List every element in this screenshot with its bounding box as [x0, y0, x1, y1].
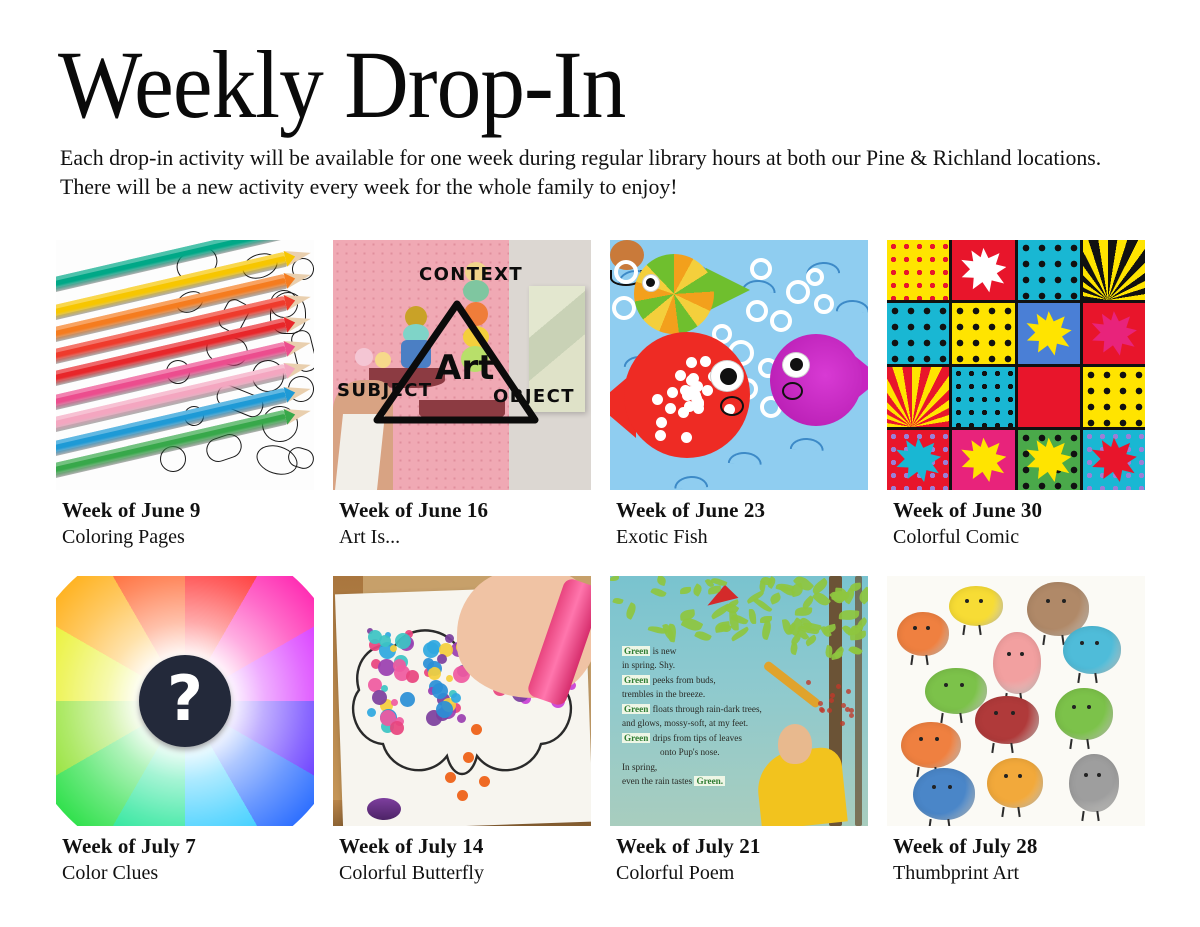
- comic-panel: [952, 240, 1014, 300]
- bubble: [750, 258, 772, 280]
- marker-dot: [428, 667, 441, 680]
- marker-dot: [423, 658, 434, 669]
- water-wave: [674, 475, 708, 488]
- bubble: [770, 310, 792, 332]
- ink-leg: [1081, 811, 1084, 821]
- activity-card[interactable]: Green is new in spring. Shy. Green peeks…: [610, 576, 868, 885]
- marker-dot: [451, 693, 461, 703]
- foliage-leaf: [680, 587, 691, 594]
- fish-magenta: [770, 334, 862, 426]
- marker-dot: [406, 670, 419, 683]
- card-activity-label: Colorful Butterfly: [339, 862, 591, 885]
- autumn-speckle: [829, 698, 834, 703]
- fish-gill: [720, 396, 744, 416]
- foliage-leaf: [691, 583, 704, 597]
- thumbprint-chick: [949, 586, 1003, 626]
- marker-dot: [445, 772, 456, 783]
- ink-eye: [1072, 705, 1076, 709]
- foliage-leaf: [650, 586, 667, 599]
- autumn-speckle: [840, 721, 845, 726]
- polka-dot: [665, 403, 676, 414]
- triangle-label-subject: SUBJECT: [337, 380, 433, 401]
- fish-eye-pupil: [790, 358, 803, 371]
- ink-leg: [1087, 739, 1090, 749]
- autumn-speckle: [827, 708, 832, 713]
- comic-panel: [887, 367, 949, 427]
- foliage-leaf: [769, 592, 783, 604]
- marker-dot: [437, 654, 447, 664]
- card-activity-label: Color Clues: [62, 862, 314, 885]
- bubble: [814, 294, 834, 314]
- marker-cap: [367, 798, 401, 820]
- poem-line: in spring. Shy.: [622, 658, 808, 672]
- marker-dot: [390, 721, 404, 735]
- autumn-speckle: [819, 707, 824, 712]
- poster-header: Weekly Drop-In Each drop-in activity wil…: [58, 38, 1158, 202]
- marker-dot: [423, 642, 439, 658]
- poem-line: Green floats through rain-dark trees,: [622, 702, 808, 716]
- poem-line: trembles in the breeze.: [622, 687, 808, 701]
- activity-image-colorful-poem: Green is new in spring. Shy. Green peeks…: [610, 576, 868, 826]
- fish-gill: [782, 382, 803, 400]
- ink-leg: [1018, 807, 1021, 817]
- ink-eye: [1087, 705, 1091, 709]
- comic-panel: [1083, 240, 1145, 300]
- activity-image-colorful-butterfly: [333, 576, 591, 826]
- ink-eye: [1080, 641, 1084, 645]
- ink-leg: [1096, 811, 1099, 821]
- marker-dot: [379, 635, 391, 647]
- water-wave: [790, 437, 825, 451]
- card-week-label: Week of June 9: [62, 498, 314, 523]
- question-mark-icon: ?: [139, 655, 231, 747]
- ink-leg: [910, 655, 913, 665]
- polka-dot: [692, 381, 703, 392]
- comic-panel: [887, 303, 949, 363]
- marker-dot: [393, 659, 406, 672]
- fish-red-polka-dot: [624, 332, 750, 458]
- comic-panel: [952, 303, 1014, 363]
- ink-leg: [991, 743, 994, 753]
- ink-leg: [1069, 739, 1072, 749]
- marker-dot: [446, 675, 453, 682]
- card-activity-label: Coloring Pages: [62, 526, 314, 549]
- card-activity-label: Thumbprint Art: [893, 862, 1145, 885]
- poster-page: Weekly Drop-In Each drop-in activity wil…: [0, 0, 1200, 927]
- poem-line: and glows, mossy-soft, at my feet.: [622, 716, 808, 730]
- ink-eye: [1095, 641, 1099, 645]
- marker-dot: [367, 708, 376, 717]
- child-head: [778, 724, 812, 764]
- comic-panel: [1083, 303, 1145, 363]
- comic-starburst: [1091, 438, 1137, 483]
- activity-card[interactable]: CONTEXT SUBJECT OBJECT Art Week of June …: [333, 240, 591, 549]
- ink-leg: [962, 625, 965, 635]
- poem-line: Green is new: [622, 644, 808, 658]
- foliage-leaf: [610, 576, 619, 581]
- poem-line: Green peeks from buds,: [622, 673, 808, 687]
- marker-dot: [479, 776, 490, 787]
- ink-leg: [925, 655, 928, 665]
- autumn-speckle: [818, 701, 823, 706]
- card-week-label: Week of June 23: [616, 498, 868, 523]
- polka-dot: [681, 432, 692, 443]
- foliage-leaf: [694, 629, 712, 643]
- activity-card[interactable]: Week of June 30 Colorful Comic: [887, 240, 1145, 549]
- bubble: [614, 260, 638, 284]
- marker-dot: [391, 699, 398, 706]
- thumbprint-turtle: [925, 668, 987, 714]
- ink-eye: [1007, 652, 1011, 656]
- card-activity-label: Colorful Comic: [893, 526, 1145, 549]
- ink-eye: [1004, 774, 1008, 778]
- marker-dot: [445, 634, 454, 643]
- comic-panel: [1018, 303, 1080, 363]
- polka-dot: [702, 385, 713, 396]
- ink-leg: [1077, 673, 1080, 683]
- highlight-green: Green: [622, 733, 650, 743]
- ink-leg: [979, 625, 982, 635]
- card-activity-label: Exotic Fish: [616, 526, 868, 549]
- card-week-label: Week of July 14: [339, 834, 591, 859]
- foliage-leaf: [749, 609, 757, 624]
- ink-eye: [1097, 773, 1101, 777]
- marker-dot: [463, 752, 474, 763]
- ink-eye: [926, 626, 930, 630]
- triangle-label-object: OBJECT: [493, 386, 575, 407]
- comic-panel: [1083, 430, 1145, 490]
- comic-starburst: [1026, 438, 1072, 483]
- activity-image-coloring-pages: [56, 240, 314, 490]
- foliage-leaf: [656, 576, 667, 586]
- bubble: [612, 296, 636, 320]
- comic-panel: [887, 240, 949, 300]
- ink-eye: [1011, 711, 1015, 715]
- triangle-label-art: Art: [435, 348, 494, 388]
- comic-panel: [952, 367, 1014, 427]
- ink-leg: [940, 713, 943, 723]
- ink-leg: [916, 767, 919, 777]
- card-activity-label: Art Is...: [339, 526, 591, 549]
- fish-eye-pupil: [646, 278, 655, 287]
- ink-eye: [935, 737, 939, 741]
- thumbprint-cat: [897, 612, 949, 656]
- page-title: Weekly Drop-In: [58, 38, 1081, 132]
- card-week-label: Week of June 30: [893, 498, 1145, 523]
- card-week-label: Week of July 21: [616, 834, 868, 859]
- ink-eye: [1018, 774, 1022, 778]
- card-week-label: Week of July 7: [62, 834, 314, 859]
- ink-eye: [1020, 652, 1024, 656]
- marker-dot: [372, 690, 387, 705]
- page-subtitle: Each drop-in activity will be available …: [60, 144, 1108, 202]
- activity-image-color-clues: ?: [56, 576, 314, 826]
- activity-card[interactable]: Week of July 28 Thumbprint Art: [887, 576, 1145, 885]
- foliage-leaf: [624, 602, 638, 620]
- foliage-leaf: [612, 597, 623, 606]
- card-week-label: Week of July 28: [893, 834, 1145, 859]
- water-wave: [728, 451, 763, 465]
- comic-panel: [1018, 367, 1080, 427]
- polka-dot: [680, 385, 691, 396]
- fish-orange-striped: [634, 254, 714, 334]
- ink-eye: [994, 711, 998, 715]
- activity-image-art-is: CONTEXT SUBJECT OBJECT Art: [333, 240, 591, 490]
- marker-dot: [390, 645, 397, 652]
- autumn-speckle: [849, 713, 854, 718]
- triangle-label-context: CONTEXT: [419, 264, 523, 285]
- thumbprint-dog: [975, 696, 1039, 744]
- marker-dot: [395, 633, 411, 649]
- ink-eye: [965, 599, 969, 603]
- activity-card[interactable]: Week of June 23 Exotic Fish: [610, 240, 868, 549]
- activity-card[interactable]: Week of June 9 Coloring Pages: [56, 240, 314, 549]
- ink-eye: [944, 683, 948, 687]
- comic-starburst: [895, 438, 941, 483]
- highlight-green: Green: [622, 704, 650, 714]
- highlight-green: Green: [622, 646, 650, 656]
- foliage-leaf: [667, 624, 677, 643]
- autumn-speckle: [836, 684, 841, 689]
- ink-leg: [947, 819, 950, 826]
- comic-panel: [1018, 240, 1080, 300]
- comic-starburst: [960, 438, 1006, 483]
- comic-panel: [952, 430, 1014, 490]
- polka-dot: [652, 394, 663, 405]
- ink-leg: [1001, 807, 1004, 817]
- marker-dot: [400, 692, 415, 707]
- ink-leg: [1095, 673, 1098, 683]
- activity-image-thumbprint-art: [887, 576, 1145, 826]
- comic-panel: [887, 430, 949, 490]
- ink-eye: [948, 785, 952, 789]
- ink-eye: [913, 626, 917, 630]
- polka-dot: [686, 357, 697, 368]
- autumn-speckle: [845, 707, 850, 712]
- activity-image-exotic-fish: [610, 240, 868, 490]
- ink-eye: [979, 599, 983, 603]
- thumbprint-bee: [901, 722, 961, 768]
- polka-dot: [656, 417, 667, 428]
- ink-eye: [960, 683, 964, 687]
- card-week-label: Week of June 16: [339, 498, 591, 523]
- card-activity-label: Colorful Poem: [616, 862, 868, 885]
- marker-dot: [436, 701, 453, 718]
- bubble: [806, 268, 824, 286]
- ink-eye: [1046, 599, 1050, 603]
- marker-dot: [432, 683, 448, 699]
- water-wave: [836, 299, 868, 312]
- marker-dot: [471, 724, 482, 735]
- marker-dot: [457, 714, 466, 723]
- comic-panel: [1083, 367, 1145, 427]
- highlight-green: Green.: [694, 776, 725, 786]
- ink-leg: [1010, 743, 1013, 753]
- ink-eye: [919, 737, 923, 741]
- activity-image-colorful-comic: [887, 240, 1145, 490]
- polka-dot: [684, 401, 695, 412]
- ink-eye: [1084, 773, 1088, 777]
- marker-dot: [457, 790, 468, 801]
- ink-leg: [1042, 635, 1045, 645]
- activity-card[interactable]: Week of July 14 Colorful Butterfly: [333, 576, 591, 885]
- comic-panel: [1018, 430, 1080, 490]
- activity-card[interactable]: ? Week of July 7 Color Clues: [56, 576, 314, 885]
- ink-eye: [932, 785, 936, 789]
- highlight-green: Green: [622, 675, 650, 685]
- autumn-speckle: [806, 680, 811, 685]
- thumbprint-duck: [1063, 626, 1121, 674]
- comic-starburst: [1026, 311, 1072, 356]
- ink-eye: [1062, 599, 1066, 603]
- thumbprint-mouse: [1069, 754, 1119, 812]
- ink-leg: [959, 713, 962, 723]
- polka-dot: [667, 387, 678, 398]
- thumbprint-person: [993, 632, 1041, 694]
- polka-dot: [655, 430, 666, 441]
- bubble: [786, 280, 810, 304]
- fish-eye-pupil: [720, 368, 737, 385]
- thumbprint-frog: [1055, 688, 1113, 740]
- thumbprint-tabby-cat: [987, 758, 1043, 808]
- comic-starburst: [960, 248, 1006, 293]
- ink-leg: [928, 819, 931, 826]
- polka-dot: [675, 370, 686, 381]
- comic-starburst: [1091, 311, 1137, 356]
- autumn-speckle: [846, 689, 851, 694]
- polka-dot: [700, 356, 711, 367]
- activity-grid: Week of June 9 Coloring Pages: [56, 240, 1148, 885]
- thumbprint-butterfly: [913, 768, 975, 820]
